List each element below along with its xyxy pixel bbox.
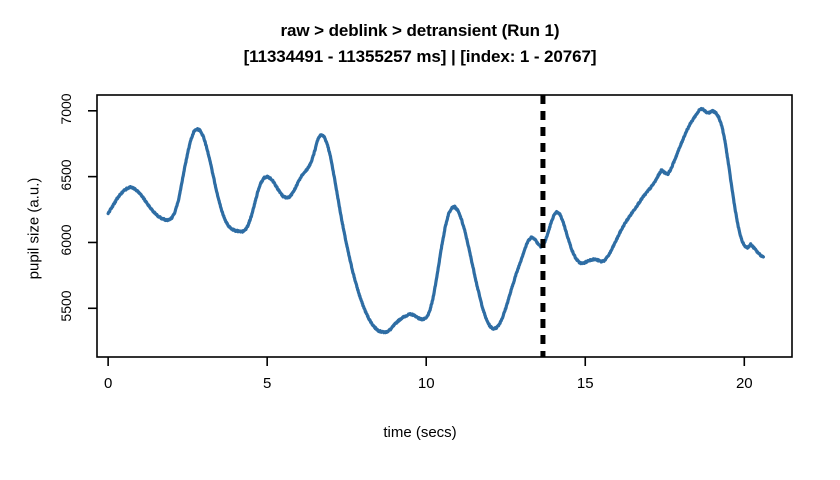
- chart-subtitle: [11334491 - 11355257 ms] | [index: 1 - 2…: [0, 44, 840, 70]
- x-tick-label: 5: [237, 375, 297, 392]
- y-axis-ticks: [88, 111, 97, 308]
- chart-title-block: raw > deblink > detransient (Run 1) [113…: [0, 18, 840, 70]
- data-series-group: [108, 109, 763, 333]
- chart-canvas: [0, 0, 840, 480]
- y-tick-label: 6500: [58, 145, 74, 205]
- x-tick-label: 0: [78, 375, 138, 392]
- y-tick-label: 7000: [58, 79, 74, 139]
- pupil-plot-figure: raw > deblink > detransient (Run 1) [113…: [0, 0, 840, 480]
- chart-title: raw > deblink > detransient (Run 1): [0, 18, 840, 44]
- data-line-pupil-size: [108, 109, 763, 333]
- x-axis-label: time (secs): [0, 424, 840, 441]
- x-tick-label: 10: [396, 375, 456, 392]
- y-tick-label: 5500: [58, 276, 74, 336]
- x-tick-label: 15: [555, 375, 615, 392]
- x-axis-ticks: [108, 357, 744, 366]
- y-axis-label: pupil size (a.u.): [26, 109, 43, 349]
- x-tick-label: 20: [714, 375, 774, 392]
- y-tick-label: 6000: [58, 210, 74, 270]
